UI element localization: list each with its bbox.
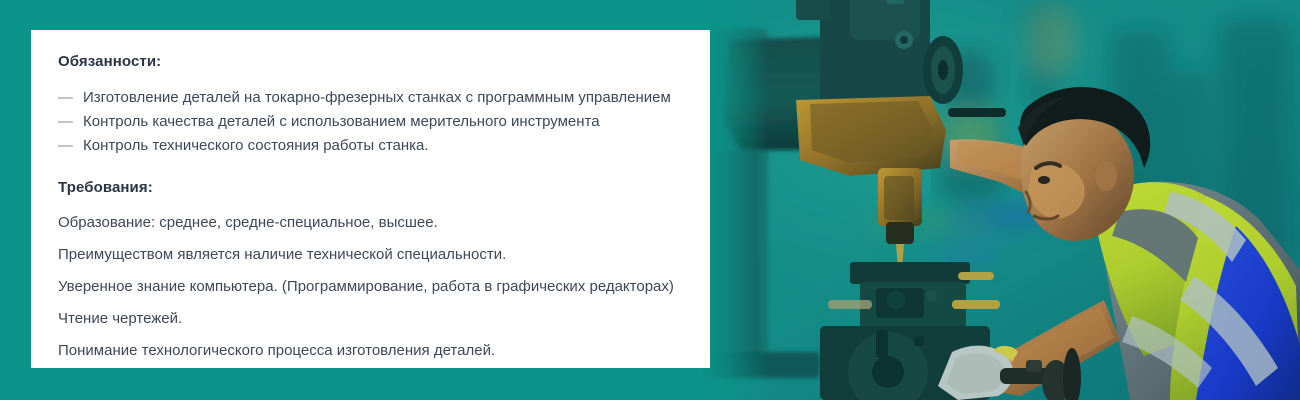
requirement-item: Чтение чертежей. xyxy=(58,307,684,331)
duties-list: — Изготовление деталей на токарно-фрезер… xyxy=(58,86,684,158)
dash-marker-icon: — xyxy=(58,134,73,158)
requirement-item: Образование: среднее, средне-специальное… xyxy=(58,211,684,235)
duties-heading: Обязанности: xyxy=(58,52,684,72)
requirement-item: Уверенное знание компьютера. (Программир… xyxy=(58,275,684,299)
requirement-item: Преимуществом является наличие техническ… xyxy=(58,243,684,267)
duty-item: — Изготовление деталей на токарно-фрезер… xyxy=(58,86,684,110)
duty-item-text: Изготовление деталей на токарно-фрезерны… xyxy=(83,89,671,106)
duty-item-text: Контроль технического состояния работы с… xyxy=(83,137,429,154)
dash-marker-icon: — xyxy=(58,86,73,110)
requirement-item: Понимание технологического процесса изго… xyxy=(58,339,684,363)
vacancy-text-card: Обязанности: — Изготовление деталей на т… xyxy=(31,30,710,368)
factory-photo-illustration xyxy=(700,0,1300,400)
vacancy-banner: Обязанности: — Изготовление деталей на т… xyxy=(0,0,1300,400)
duty-item: — Контроль качества деталей с использова… xyxy=(58,110,684,134)
requirements-list: Образование: среднее, средне-специальное… xyxy=(58,211,684,363)
requirements-heading: Требования: xyxy=(58,178,684,198)
duty-item-text: Контроль качества деталей с использовани… xyxy=(83,113,600,130)
dash-marker-icon: — xyxy=(58,110,73,134)
duty-item: — Контроль технического состояния работы… xyxy=(58,134,684,158)
factory-photo xyxy=(700,0,1300,400)
